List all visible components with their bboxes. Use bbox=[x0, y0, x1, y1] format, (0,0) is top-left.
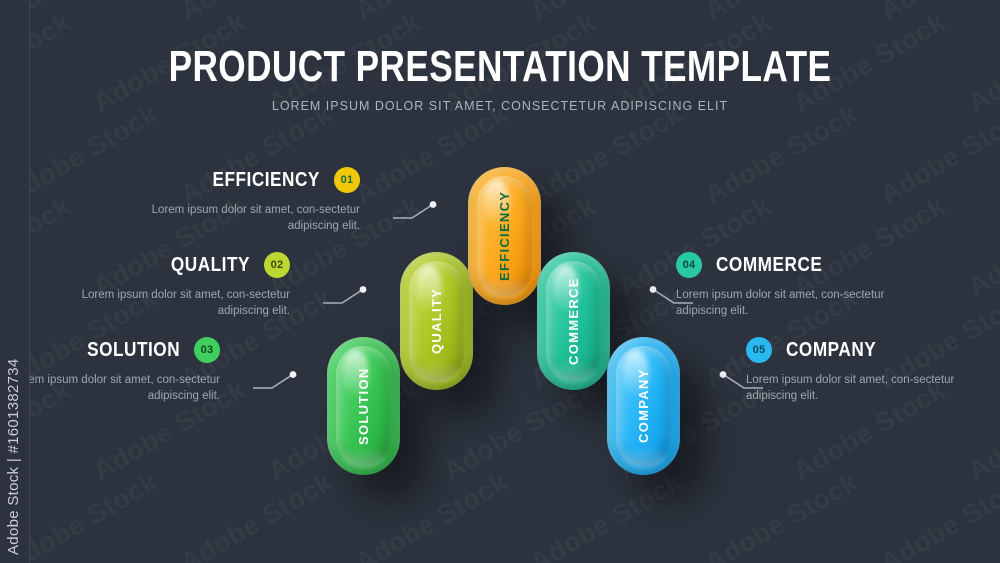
pill-company-label: COMPANY bbox=[607, 337, 680, 475]
pill-commerce[interactable]: COMMERCE bbox=[537, 252, 610, 390]
info-block-efficiency-description: Lorem ipsum dolor sit amet, con-sectetur… bbox=[150, 202, 360, 234]
page-subtitle: LOREM IPSUM DOLOR SIT AMET, CONSECTETUR … bbox=[0, 99, 1000, 113]
info-block-solution-head: SOLUTION 03 bbox=[5, 337, 220, 363]
slide-stage: PRODUCT PRESENTATION TEMPLATE LOREM IPSU… bbox=[0, 0, 1000, 563]
info-block-company-head: 05 COMPANY bbox=[746, 337, 961, 363]
adobe-stock-id-label: Adobe Stock | #1601382734 bbox=[5, 358, 22, 555]
pill-solution-label: SOLUTION bbox=[327, 337, 400, 475]
info-block-commerce-description: Lorem ipsum dolor sit amet, con-sectetur… bbox=[676, 287, 886, 319]
badge-04[interactable]: 04 bbox=[676, 252, 702, 278]
pill-efficiency-label: EFFICIENCY bbox=[468, 167, 541, 305]
pill-efficiency[interactable]: EFFICIENCY bbox=[468, 167, 541, 305]
badge-03[interactable]: 03 bbox=[194, 337, 220, 363]
page-title: PRODUCT PRESENTATION TEMPLATE bbox=[100, 44, 900, 90]
info-block-company[interactable]: 05 COMPANY Lorem ipsum dolor sit amet, c… bbox=[746, 337, 961, 404]
info-block-company-description: Lorem ipsum dolor sit amet, con-sectetur… bbox=[746, 372, 956, 404]
pill-quality[interactable]: QUALITY bbox=[400, 252, 473, 390]
info-block-solution-title: SOLUTION bbox=[87, 339, 180, 362]
adobe-stock-sidebar: Adobe Stock | #1601382734 bbox=[0, 0, 30, 563]
connector-line-01 bbox=[392, 200, 440, 224]
info-block-solution[interactable]: SOLUTION 03 Lorem ipsum dolor sit amet, … bbox=[5, 337, 220, 404]
info-block-commerce-title: COMMERCE bbox=[716, 254, 822, 277]
info-block-efficiency[interactable]: EFFICIENCY 01 Lorem ipsum dolor sit amet… bbox=[145, 167, 360, 234]
pill-solution[interactable]: SOLUTION bbox=[327, 337, 400, 475]
info-block-commerce[interactable]: 04 COMMERCE Lorem ipsum dolor sit amet, … bbox=[676, 252, 891, 319]
info-block-quality-title: QUALITY bbox=[171, 254, 250, 277]
slide-header: PRODUCT PRESENTATION TEMPLATE LOREM IPSU… bbox=[0, 44, 1000, 113]
pill-company[interactable]: COMPANY bbox=[607, 337, 680, 475]
info-block-commerce-head: 04 COMMERCE bbox=[676, 252, 891, 278]
badge-02[interactable]: 02 bbox=[264, 252, 290, 278]
info-block-quality-head: QUALITY 02 bbox=[75, 252, 290, 278]
badge-05[interactable]: 05 bbox=[746, 337, 772, 363]
pill-commerce-label: COMMERCE bbox=[537, 252, 610, 390]
info-block-quality-description: Lorem ipsum dolor sit amet, con-sectetur… bbox=[80, 287, 290, 319]
info-block-solution-description: Lorem ipsum dolor sit amet, con-sectetur… bbox=[10, 372, 220, 404]
badge-01[interactable]: 01 bbox=[334, 167, 360, 193]
pill-quality-label: QUALITY bbox=[400, 252, 473, 390]
connector-line-02 bbox=[322, 285, 370, 309]
info-block-efficiency-head: EFFICIENCY 01 bbox=[145, 167, 360, 193]
info-block-efficiency-title: EFFICIENCY bbox=[213, 169, 320, 192]
info-block-company-title: COMPANY bbox=[786, 339, 876, 362]
connector-line-03 bbox=[252, 370, 300, 394]
info-block-quality[interactable]: QUALITY 02 Lorem ipsum dolor sit amet, c… bbox=[75, 252, 290, 319]
